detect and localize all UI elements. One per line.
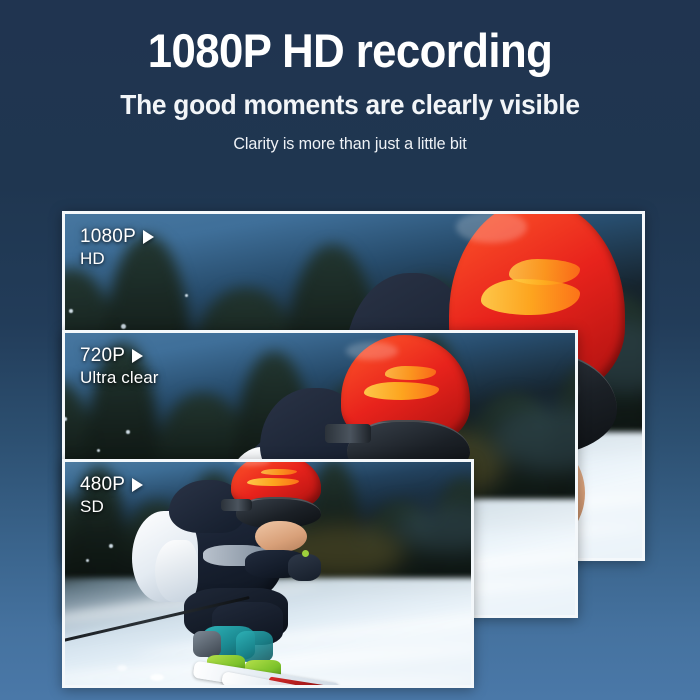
quality-label: HD (80, 249, 154, 269)
resolution-label-480p[interactable]: 480P SD (80, 474, 143, 517)
quality-label: SD (80, 497, 143, 517)
resolution-value: 1080P (80, 226, 136, 248)
resolution-value: 480P (80, 474, 125, 496)
resolution-label-1080p[interactable]: 1080P HD (80, 226, 154, 269)
video-panel-480p[interactable]: 480P SD (62, 459, 474, 688)
promo-banner: 1080P HD recording The good moments are … (0, 0, 700, 700)
play-triangle-icon[interactable] (132, 349, 143, 363)
resolution-row: 1080P (80, 226, 154, 248)
page-subtitle: The good moments are clearly visible (21, 77, 679, 121)
page-title: 1080P HD recording (25, 0, 676, 77)
page-tagline: Clarity is more than just a little bit (18, 121, 683, 154)
resolution-row: 480P (80, 474, 143, 496)
resolution-row: 720P (80, 345, 159, 367)
quality-label: Ultra clear (80, 368, 159, 388)
play-triangle-icon[interactable] (143, 230, 154, 244)
play-triangle-icon[interactable] (132, 478, 143, 492)
skier-figure (132, 462, 368, 685)
resolution-value: 720P (80, 345, 125, 367)
header-text-block: 1080P HD recording The good moments are … (0, 0, 700, 154)
resolution-label-720p[interactable]: 720P Ultra clear (80, 345, 159, 388)
